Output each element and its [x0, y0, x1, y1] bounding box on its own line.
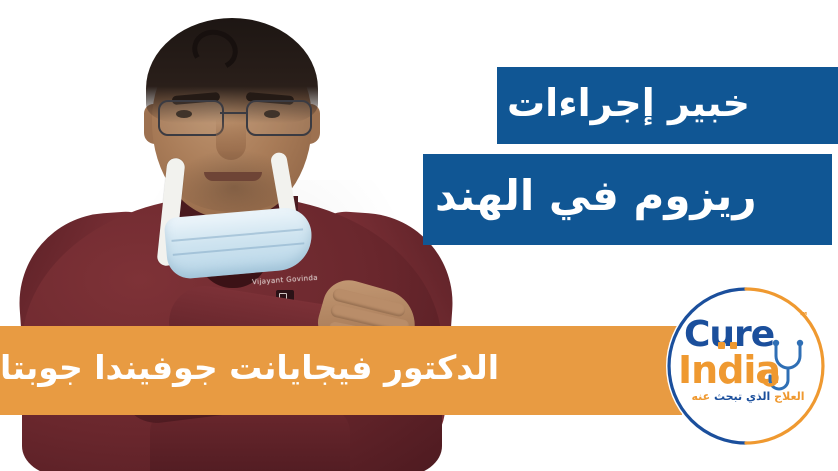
mouth [204, 172, 262, 181]
headline-banner-line-1: خبير إجراءات [497, 67, 838, 144]
left-lens [158, 100, 224, 136]
glasses-bridge [220, 112, 246, 114]
mask-pleat [171, 228, 303, 241]
tagline-part-1: العلاج [774, 390, 804, 403]
cure-india-logo[interactable]: Cure ™ India العلاج الذي تبحث عنه [658, 286, 838, 446]
mask-pleat [173, 242, 305, 255]
headline-banner-line-2: ريزوم في الهند [423, 154, 832, 245]
tagline-part-2: الذي تبحث [714, 390, 770, 403]
thumbnail-canvas: Vijayant Govinda خبير إجراءات ريزوم في ا… [0, 0, 838, 471]
stethoscope-icon [762, 338, 822, 398]
logo-wordmark: Cure ™ India العلاج الذي تبحث عنه [658, 286, 838, 446]
logo-tagline: العلاج الذي تبحث عنه [668, 390, 828, 403]
trademark-symbol: ™ [798, 310, 809, 323]
doctor-name-banner: الدكتور فيجايانت جوفيندا جوبتا [0, 326, 682, 415]
right-lens [246, 100, 312, 136]
tagline-part-3: عنه [691, 390, 710, 403]
